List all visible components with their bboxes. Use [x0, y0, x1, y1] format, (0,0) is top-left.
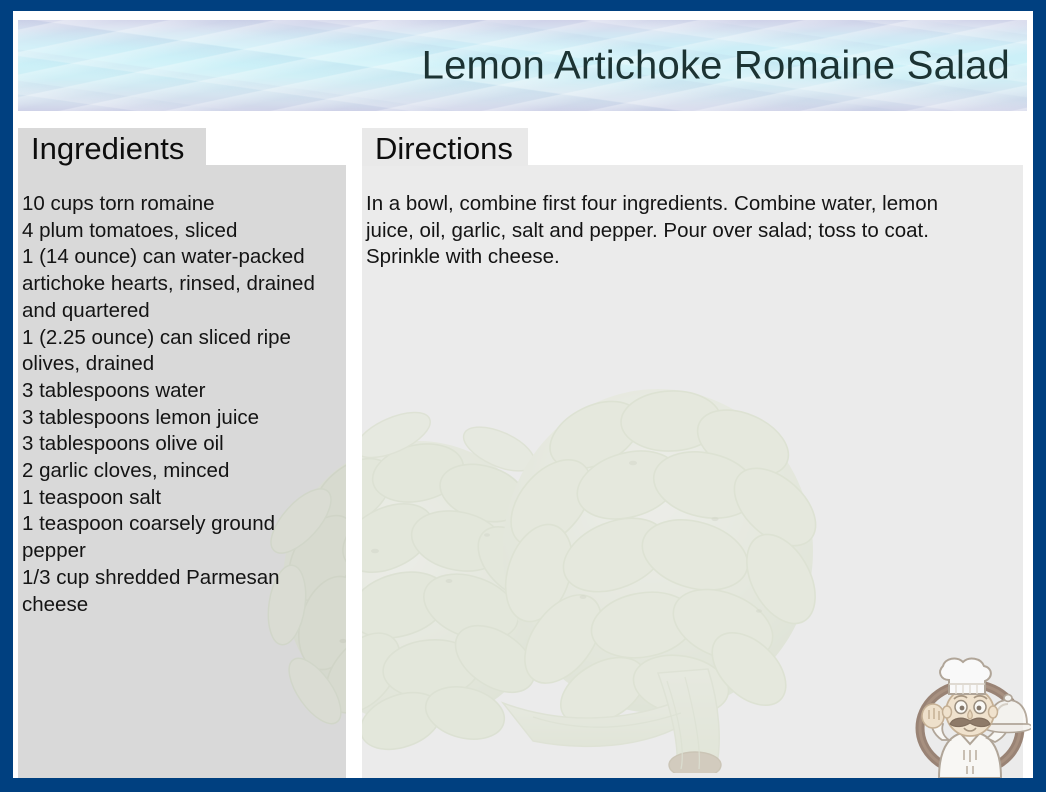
tab-ingredients[interactable]: Ingredients: [18, 128, 206, 166]
title-banner: Lemon Artichoke Romaine Salad: [18, 20, 1027, 111]
recipe-slide: Lemon Artichoke Romaine Salad: [0, 0, 1046, 792]
tab-directions[interactable]: Directions: [362, 128, 528, 166]
tab-directions-label: Directions: [375, 133, 513, 164]
tab-ingredients-label: Ingredients: [31, 133, 184, 164]
directions-text: In a bowl, combine first four ingredient…: [366, 191, 986, 271]
list-item: 10 cups torn romaine: [22, 191, 342, 218]
ingredients-list: 10 cups torn romaine 4 plum tomatoes, sl…: [22, 191, 342, 618]
list-item: 1 teaspoon salt: [22, 485, 342, 512]
list-item: 3 tablespoons lemon juice: [22, 405, 342, 432]
panel-gutter: [346, 165, 362, 778]
list-item: 3 tablespoons water: [22, 378, 342, 405]
list-item: 1/3 cup shredded Parmesan cheese: [22, 565, 342, 618]
list-item: 3 tablespoons olive oil: [22, 431, 342, 458]
list-item: 4 plum tomatoes, sliced: [22, 218, 342, 245]
list-item: 1 (14 ounce) can water-packed artichoke …: [22, 244, 342, 324]
list-item: 2 garlic cloves, minced: [22, 458, 342, 485]
list-item: 1 teaspoon coarsely ground pepper: [22, 511, 342, 564]
page-title: Lemon Artichoke Romaine Salad: [422, 43, 1010, 88]
list-item: 1 (2.25 ounce) can sliced ripe olives, d…: [22, 325, 342, 378]
slide-content-area: Lemon Artichoke Romaine Salad: [13, 11, 1033, 778]
